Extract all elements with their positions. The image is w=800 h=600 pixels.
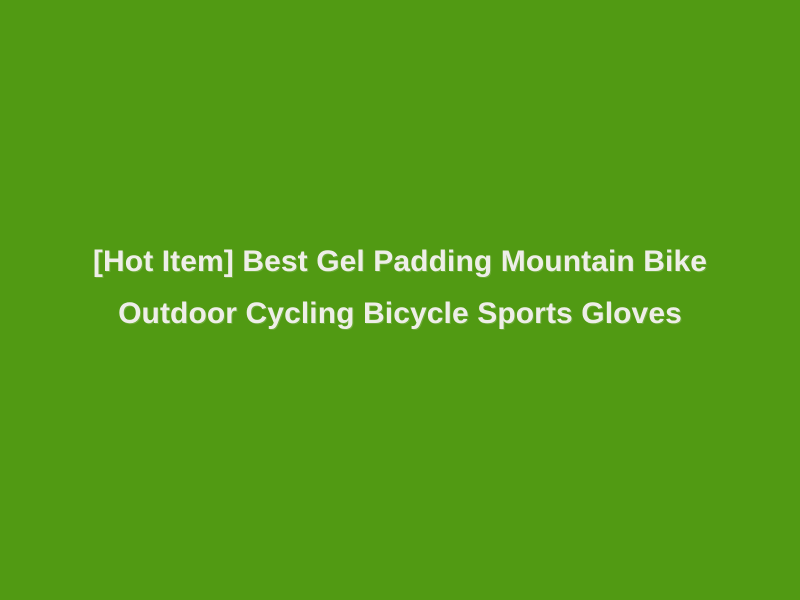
product-title: [Hot Item] Best Gel Padding Mountain Bik…: [45, 236, 755, 340]
image-placeholder-card: [Hot Item] Best Gel Padding Mountain Bik…: [0, 0, 800, 600]
title-block: [Hot Item] Best Gel Padding Mountain Bik…: [0, 0, 800, 600]
